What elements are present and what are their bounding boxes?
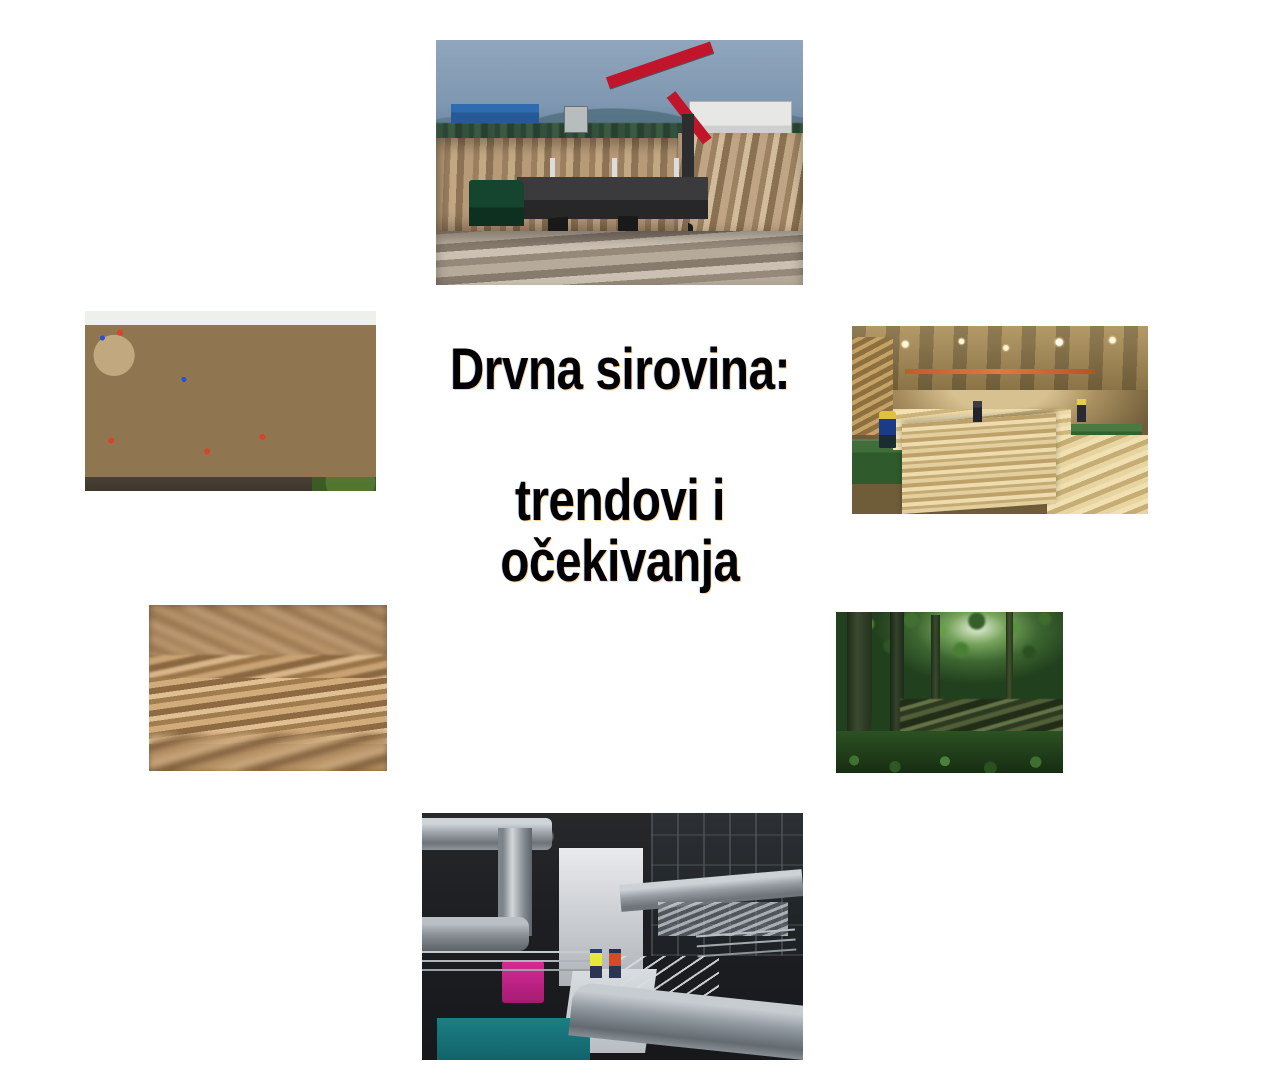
worker-red-vest bbox=[609, 949, 621, 979]
worker-yellow-vest bbox=[590, 949, 602, 979]
handrail-left bbox=[422, 951, 597, 953]
worker-mid bbox=[973, 401, 982, 422]
slide-title-block: Drvna sirovina: trendovi i očekivanja bbox=[400, 340, 840, 593]
worker-foreground bbox=[879, 411, 897, 449]
lumber-stack-front bbox=[902, 413, 1056, 514]
teal-basin bbox=[437, 1018, 589, 1060]
blue-shed bbox=[451, 104, 539, 124]
worker-right bbox=[1077, 399, 1086, 422]
horizontal-vessel bbox=[422, 917, 529, 952]
title-line-2: trendovi i bbox=[440, 471, 801, 532]
title-line-1: Drvna sirovina: bbox=[440, 340, 801, 401]
overhead-crane-beam bbox=[905, 369, 1094, 374]
pellets-foreground-blur bbox=[149, 734, 387, 771]
stacked-logs-photo[interactable] bbox=[85, 311, 376, 491]
magenta-pump bbox=[502, 961, 544, 1003]
title-spacer bbox=[400, 401, 840, 471]
lumber-stack-right bbox=[1047, 435, 1148, 514]
forest-photo[interactable] bbox=[836, 612, 1063, 773]
biomass-plant-interior-photo[interactable] bbox=[422, 813, 803, 1060]
foreground-logs bbox=[436, 231, 803, 285]
tree-trunk-far bbox=[1006, 612, 1013, 699]
crane-grapple bbox=[564, 106, 588, 133]
truck-cab bbox=[469, 180, 524, 227]
log-paint-marks bbox=[85, 311, 376, 491]
forest-understory bbox=[836, 731, 1063, 773]
title-line-3: očekivanja bbox=[440, 532, 801, 593]
wood-pellets-photo[interactable] bbox=[149, 605, 387, 771]
logging-truck-timber-yard-photo[interactable] bbox=[436, 40, 803, 285]
presentation-slide: Drvna sirovina: trendovi i očekivanja bbox=[0, 0, 1276, 1080]
truck-trailer-bed bbox=[517, 177, 708, 219]
sawmill-interior-photo[interactable] bbox=[852, 326, 1148, 514]
